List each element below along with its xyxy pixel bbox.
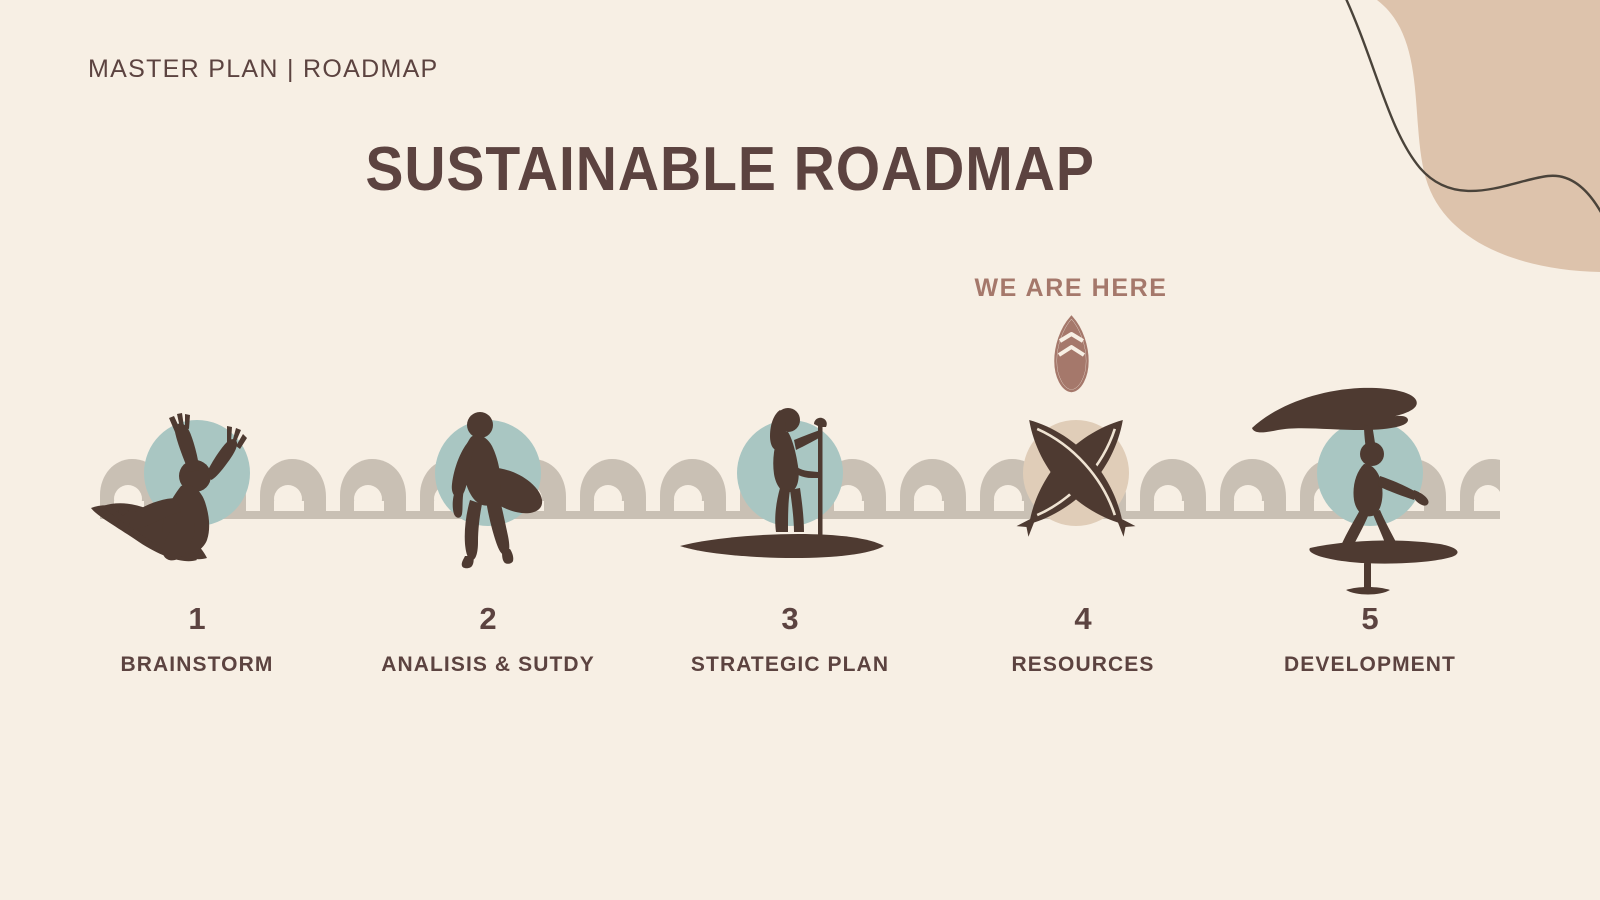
step-label: DEVELOPMENT xyxy=(1220,653,1520,677)
roadmap-timeline: 1 BRAINSTORM 2 ANALISIS & SUTDY 3 STRATE… xyxy=(0,0,1600,900)
step-caption-3: 3 STRATEGIC PLAN xyxy=(640,602,940,677)
step-caption-5: 5 DEVELOPMENT xyxy=(1220,602,1520,677)
step-label: ANALISIS & SUTDY xyxy=(338,653,638,677)
timeline-step-4[interactable] xyxy=(956,420,1196,580)
step-caption-2: 2 ANALISIS & SUTDY xyxy=(338,602,638,677)
step-caption-4: 4 RESOURCES xyxy=(933,602,1233,677)
step-number: 5 xyxy=(1220,602,1520,636)
timeline-step-3[interactable] xyxy=(670,420,910,580)
paddleboarder-icon xyxy=(670,380,910,600)
timeline-step-5[interactable] xyxy=(1250,420,1490,580)
roadmap-slide: MASTER PLAN | ROADMAP SUSTAINABLE ROADMA… xyxy=(0,0,1600,900)
step-caption-1: 1 BRAINSTORM xyxy=(47,602,347,677)
step-number: 4 xyxy=(933,602,1233,636)
crossed-surfboards-icon xyxy=(956,380,1196,600)
step-number: 2 xyxy=(338,602,638,636)
timeline-step-2[interactable] xyxy=(368,420,608,580)
step-number: 1 xyxy=(47,602,347,636)
step-label: RESOURCES xyxy=(933,653,1233,677)
wing-foiler-icon xyxy=(1250,380,1490,600)
step-label: BRAINSTORM xyxy=(47,653,347,677)
timeline-step-1[interactable] xyxy=(77,420,317,580)
surfer-carrying-board-icon xyxy=(368,380,608,600)
step-label: STRATEGIC PLAN xyxy=(640,653,940,677)
surfer-riding-wave-icon xyxy=(77,380,317,600)
step-number: 3 xyxy=(640,602,940,636)
